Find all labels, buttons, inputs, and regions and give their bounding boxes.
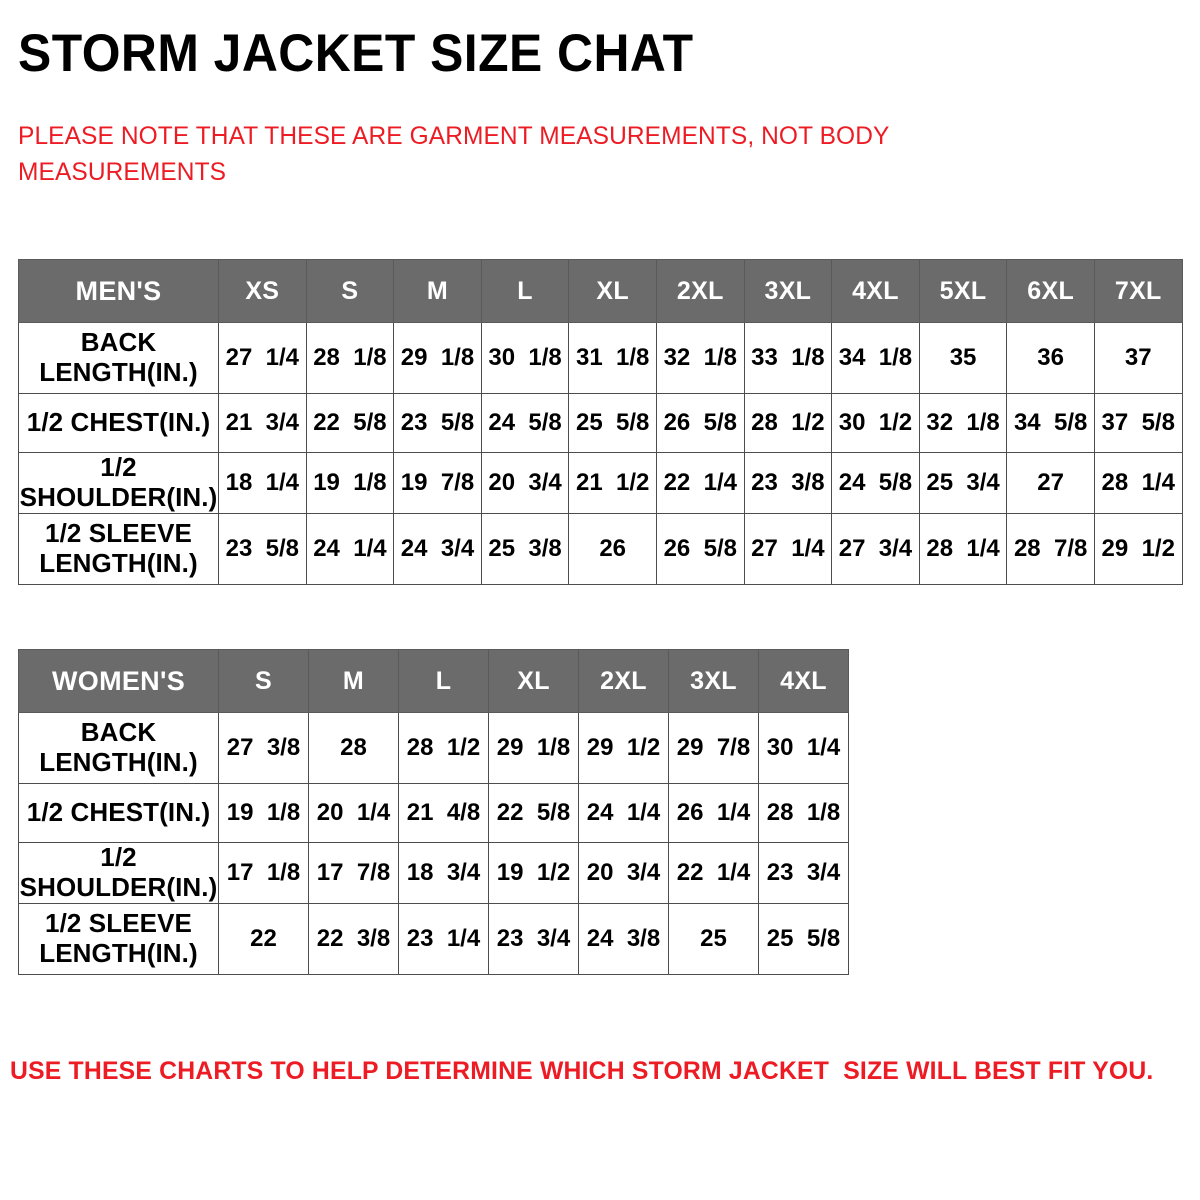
womens-row-label-half-sleeve: 1/2 SLEEVE LENGTH(IN.) <box>19 903 219 974</box>
cell: 26 <box>569 513 657 584</box>
mens-col-3xl: 3XL <box>744 260 832 323</box>
cell: 22 <box>219 903 309 974</box>
cell: 28 1/2 <box>399 713 489 784</box>
cell: 28 <box>309 713 399 784</box>
cell: 29 7/8 <box>669 713 759 784</box>
mens-col-s: S <box>306 260 394 323</box>
cell: 20 1/4 <box>309 784 399 843</box>
cell: 26 5/8 <box>656 513 744 584</box>
cell: 27 <box>1007 453 1095 514</box>
cell: 35 <box>919 323 1007 394</box>
cell: 25 <box>669 903 759 974</box>
cell: 33 1/8 <box>744 323 832 394</box>
table-row: 1/2 SHOULDER(IN.) 18 1/4 19 1/8 19 7/8 2… <box>19 453 1183 514</box>
cell: 18 3/4 <box>399 843 489 904</box>
cell: 28 1/4 <box>1094 453 1182 514</box>
womens-row-label-half-chest: 1/2 CHEST(IN.) <box>19 784 219 843</box>
table-row: 1/2 SHOULDER(IN.) 17 1/8 17 7/8 18 3/4 1… <box>19 843 849 904</box>
cell: 24 5/8 <box>832 453 920 514</box>
garment-measurement-notice: PLEASE NOTE THAT THESE ARE GARMENT MEASU… <box>18 118 959 191</box>
cell: 18 1/4 <box>219 453 307 514</box>
cell: 28 1/8 <box>759 784 849 843</box>
cell: 19 1/8 <box>219 784 309 843</box>
cell: 23 3/4 <box>489 903 579 974</box>
fit-guidance-notice: USE THESE CHARTS TO HELP DETERMINE WHICH… <box>10 1057 1178 1086</box>
womens-row-label-back-length: BACK LENGTH(IN.) <box>19 713 219 784</box>
mens-col-5xl: 5XL <box>919 260 1007 323</box>
mens-col-2xl: 2XL <box>656 260 744 323</box>
mens-row-label-half-shoulder: 1/2 SHOULDER(IN.) <box>19 453 219 514</box>
cell: 20 3/4 <box>579 843 669 904</box>
cell: 36 <box>1007 323 1095 394</box>
mens-col-xs: XS <box>219 260 307 323</box>
cell: 19 7/8 <box>394 453 482 514</box>
table-row: 1/2 SLEEVE LENGTH(IN.) 22 22 3/8 23 1/4 … <box>19 903 849 974</box>
table-row: BACK LENGTH(IN.) 27 3/8 28 28 1/2 29 1/8… <box>19 713 849 784</box>
cell: 37 5/8 <box>1094 394 1182 453</box>
cell: 22 5/8 <box>489 784 579 843</box>
cell: 28 1/8 <box>306 323 394 394</box>
cell: 25 3/4 <box>919 453 1007 514</box>
table-row: 1/2 CHEST(IN.) 19 1/8 20 1/4 21 4/8 22 5… <box>19 784 849 843</box>
cell: 25 5/8 <box>569 394 657 453</box>
cell: 32 1/8 <box>656 323 744 394</box>
cell: 22 3/8 <box>309 903 399 974</box>
cell: 29 1/2 <box>579 713 669 784</box>
womens-table-head: WOMEN'S S M L XL 2XL 3XL 4XL <box>19 650 849 713</box>
mens-row-label-back-length: BACK LENGTH(IN.) <box>19 323 219 394</box>
cell: 34 1/8 <box>832 323 920 394</box>
cell: 31 1/8 <box>569 323 657 394</box>
cell: 29 1/2 <box>1094 513 1182 584</box>
cell: 29 1/8 <box>489 713 579 784</box>
mens-size-table: MEN'S XS S M L XL 2XL 3XL 4XL 5XL 6XL 7X… <box>18 259 1183 585</box>
page-title: STORM JACKET SIZE CHAT <box>18 26 694 82</box>
mens-col-m: M <box>394 260 482 323</box>
cell: 17 1/8 <box>219 843 309 904</box>
cell: 32 1/8 <box>919 394 1007 453</box>
cell: 25 5/8 <box>759 903 849 974</box>
cell: 20 3/4 <box>481 453 569 514</box>
womens-col-3xl: 3XL <box>669 650 759 713</box>
cell: 25 3/8 <box>481 513 569 584</box>
cell: 37 <box>1094 323 1182 394</box>
mens-col-6xl: 6XL <box>1007 260 1095 323</box>
mens-table-body: BACK LENGTH(IN.) 27 1/4 28 1/8 29 1/8 30… <box>19 323 1183 585</box>
cell: 23 5/8 <box>394 394 482 453</box>
table-row: BACK LENGTH(IN.) 27 1/4 28 1/8 29 1/8 30… <box>19 323 1183 394</box>
cell: 22 1/4 <box>669 843 759 904</box>
mens-corner-label: MEN'S <box>19 260 219 323</box>
cell: 23 5/8 <box>219 513 307 584</box>
cell: 30 1/4 <box>759 713 849 784</box>
mens-header-row: MEN'S XS S M L XL 2XL 3XL 4XL 5XL 6XL 7X… <box>19 260 1183 323</box>
cell: 17 7/8 <box>309 843 399 904</box>
womens-table-body: BACK LENGTH(IN.) 27 3/8 28 28 1/2 29 1/8… <box>19 713 849 975</box>
mens-table-head: MEN'S XS S M L XL 2XL 3XL 4XL 5XL 6XL 7X… <box>19 260 1183 323</box>
cell: 28 1/4 <box>919 513 1007 584</box>
womens-col-4xl: 4XL <box>759 650 849 713</box>
cell: 24 5/8 <box>481 394 569 453</box>
cell: 23 3/8 <box>744 453 832 514</box>
cell: 27 1/4 <box>219 323 307 394</box>
cell: 30 1/8 <box>481 323 569 394</box>
cell: 24 1/4 <box>579 784 669 843</box>
mens-col-4xl: 4XL <box>832 260 920 323</box>
womens-col-2xl: 2XL <box>579 650 669 713</box>
womens-col-m: M <box>309 650 399 713</box>
cell: 21 3/4 <box>219 394 307 453</box>
cell: 19 1/8 <box>306 453 394 514</box>
womens-row-label-half-shoulder: 1/2 SHOULDER(IN.) <box>19 843 219 904</box>
womens-col-l: L <box>399 650 489 713</box>
mens-col-l: L <box>481 260 569 323</box>
womens-col-s: S <box>219 650 309 713</box>
cell: 22 1/4 <box>656 453 744 514</box>
table-row: 1/2 SLEEVE LENGTH(IN.) 23 5/8 24 1/4 24 … <box>19 513 1183 584</box>
womens-corner-label: WOMEN'S <box>19 650 219 713</box>
cell: 24 3/8 <box>579 903 669 974</box>
cell: 21 1/2 <box>569 453 657 514</box>
cell: 27 3/4 <box>832 513 920 584</box>
cell: 27 3/8 <box>219 713 309 784</box>
cell: 23 1/4 <box>399 903 489 974</box>
cell: 28 1/2 <box>744 394 832 453</box>
size-chart-page: STORM JACKET SIZE CHAT PLEASE NOTE THAT … <box>0 0 1200 1200</box>
cell: 26 5/8 <box>656 394 744 453</box>
mens-row-label-half-chest: 1/2 CHEST(IN.) <box>19 394 219 453</box>
womens-header-row: WOMEN'S S M L XL 2XL 3XL 4XL <box>19 650 849 713</box>
mens-col-xl: XL <box>569 260 657 323</box>
table-row: 1/2 CHEST(IN.) 21 3/4 22 5/8 23 5/8 24 5… <box>19 394 1183 453</box>
cell: 28 7/8 <box>1007 513 1095 584</box>
mens-row-label-half-sleeve: 1/2 SLEEVE LENGTH(IN.) <box>19 513 219 584</box>
cell: 24 1/4 <box>306 513 394 584</box>
cell: 19 1/2 <box>489 843 579 904</box>
cell: 30 1/2 <box>832 394 920 453</box>
cell: 21 4/8 <box>399 784 489 843</box>
mens-col-7xl: 7XL <box>1094 260 1182 323</box>
cell: 26 1/4 <box>669 784 759 843</box>
cell: 22 5/8 <box>306 394 394 453</box>
cell: 34 5/8 <box>1007 394 1095 453</box>
cell: 27 1/4 <box>744 513 832 584</box>
cell: 24 3/4 <box>394 513 482 584</box>
cell: 29 1/8 <box>394 323 482 394</box>
cell: 23 3/4 <box>759 843 849 904</box>
womens-col-xl: XL <box>489 650 579 713</box>
womens-size-table: WOMEN'S S M L XL 2XL 3XL 4XL BACK LENGTH… <box>18 649 849 975</box>
